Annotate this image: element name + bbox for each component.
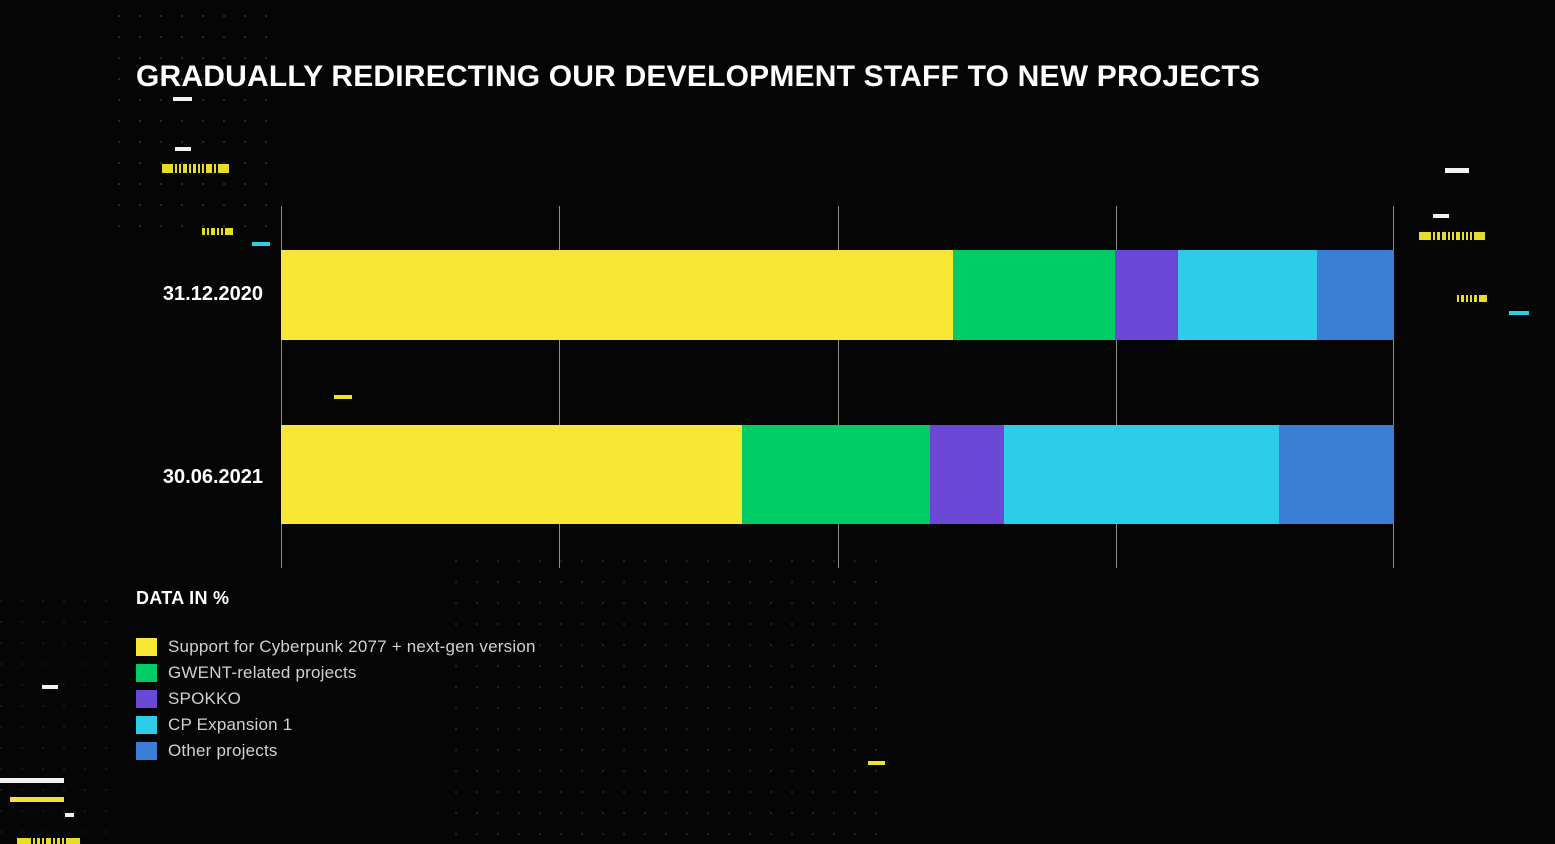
bar-segment [930,425,1005,524]
chart-legend: DATA IN % Support for Cyberpunk 2077 + n… [136,588,536,767]
bar-row-2020 [281,250,1394,340]
bar-segment [281,425,742,524]
legend-item-label: GWENT-related projects [168,663,357,683]
legend-item[interactable]: Support for Cyberpunk 2077 + next-gen ve… [136,637,536,657]
decorative-dot-grid-left [0,600,120,844]
bar-segment [281,250,953,340]
legend-swatch-icon [136,690,157,708]
decorative-dot-grid-topleft [118,0,268,244]
bar-segment [1115,250,1178,340]
legend-item[interactable]: SPOKKO [136,689,536,709]
decorative-bar-2 [10,797,64,802]
decorative-barcode-4 [1457,295,1487,302]
bar-segment [1279,425,1394,524]
bar-category-label-2021: 30.06.2021 [40,466,263,489]
decorative-dash-10 [65,813,74,817]
bar-segment [742,425,930,524]
bar-segment [1004,425,1279,524]
decorative-dash-3 [252,242,270,246]
legend-swatch-icon [136,664,157,682]
bar-category-label-2020: 31.12.2020 [40,283,263,306]
decorative-barcode-3 [1419,232,1485,240]
decorative-dash-5 [868,761,885,765]
legend-item[interactable]: Other projects [136,741,536,761]
bar-segment [1317,250,1394,340]
legend-heading: DATA IN % [136,588,536,609]
legend-item-label: CP Expansion 1 [168,715,292,735]
decorative-dash-1 [173,97,192,101]
stacked-bar-chart [281,206,1394,568]
decorative-barcode-5 [17,838,80,844]
legend-swatch-icon [136,638,157,656]
decorative-barcode-1 [162,164,229,173]
legend-item-list: Support for Cyberpunk 2077 + next-gen ve… [136,637,536,761]
page-title: GRADUALLY REDIRECTING OUR DEVELOPMENT ST… [136,60,1260,94]
legend-item-label: Support for Cyberpunk 2077 + next-gen ve… [168,637,536,657]
decorative-dash-6 [1445,168,1469,173]
bar-segment [1178,250,1317,340]
decorative-dash-7 [1433,214,1449,218]
decorative-barcode-2 [202,228,233,235]
legend-swatch-icon [136,742,157,760]
bar-row-2021 [281,425,1394,524]
decorative-dash-8 [1509,311,1529,315]
legend-swatch-icon [136,716,157,734]
decorative-dash-2 [175,147,191,151]
legend-item[interactable]: GWENT-related projects [136,663,536,683]
decorative-dash-9 [42,685,58,689]
legend-item-label: Other projects [168,741,278,761]
decorative-bar-1 [0,778,64,783]
legend-item[interactable]: CP Expansion 1 [136,715,536,735]
bar-segment [953,250,1115,340]
legend-item-label: SPOKKO [168,689,241,709]
